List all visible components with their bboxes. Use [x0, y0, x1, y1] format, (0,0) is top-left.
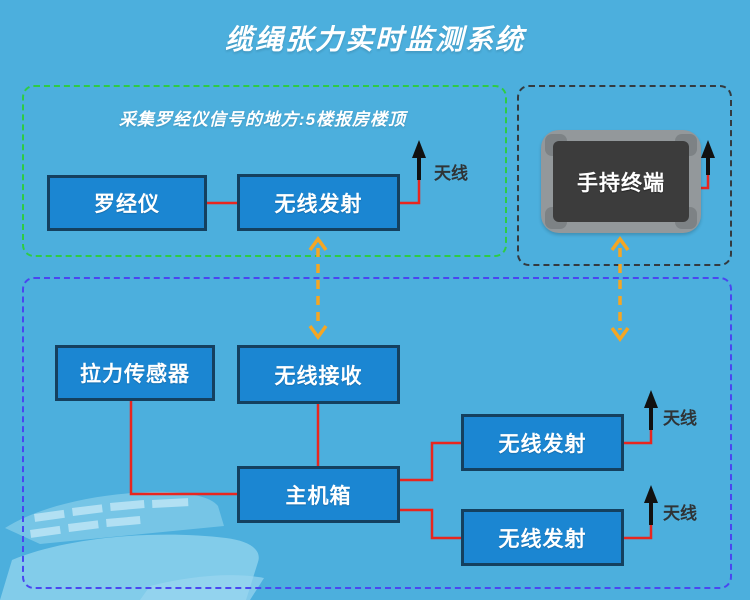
antenna-label-1: 天线: [434, 159, 468, 184]
terminal-screen-label: 手持终端: [553, 141, 689, 222]
node-wireless-receiver[interactable]: 无线接收: [237, 345, 400, 404]
antenna-label-3: 天线: [663, 404, 697, 429]
page-title: 缆绳张力实时监测系统: [0, 18, 750, 58]
node-tension-sensor[interactable]: 拉力传感器: [55, 345, 215, 401]
node-host-chassis[interactable]: 主机箱: [237, 466, 400, 523]
node-wireless-transmitter-b[interactable]: 无线发射: [461, 509, 624, 566]
diagram-canvas: 缆绳张力实时监测系统 采集罗经仪信号的地方:5楼报房楼顶: [0, 0, 750, 600]
group-ship-area: [22, 277, 732, 589]
node-wireless-transmitter-a[interactable]: 无线发射: [461, 414, 624, 471]
handheld-terminal-device[interactable]: 手持终端: [541, 130, 701, 233]
group-roof-title: 采集罗经仪信号的地方:5楼报房楼顶: [22, 105, 503, 130]
node-compass[interactable]: 罗经仪: [47, 175, 207, 231]
antenna-label-4: 天线: [663, 499, 697, 524]
node-wireless-transmitter-top[interactable]: 无线发射: [237, 174, 400, 231]
